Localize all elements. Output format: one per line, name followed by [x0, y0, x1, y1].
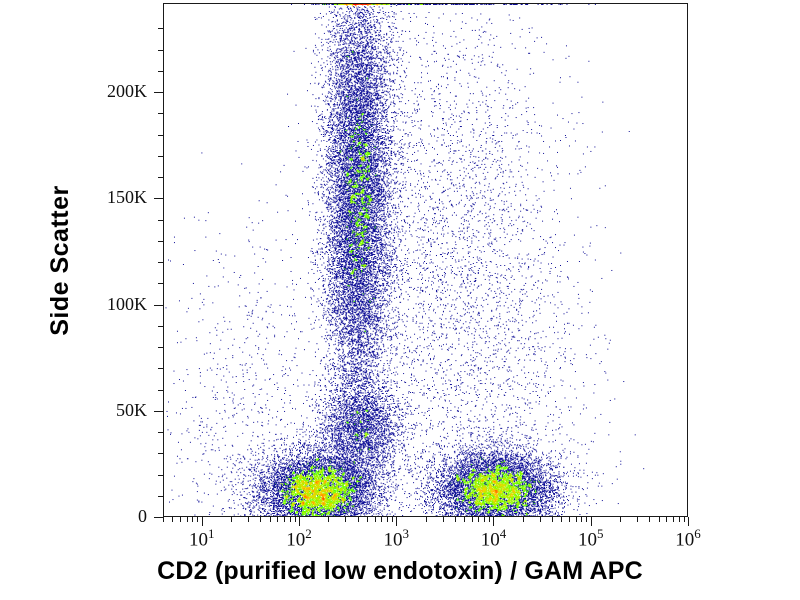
x-tick-major: [396, 517, 397, 526]
y-axis-title: Side Scatter: [40, 0, 80, 520]
x-tick-major: [591, 517, 592, 526]
x-tick-minor: [358, 517, 359, 522]
x-tick-minor: [569, 517, 570, 522]
x-tick-minor: [328, 517, 329, 522]
x-tick-minor: [290, 517, 291, 522]
x-tick-minor: [523, 517, 524, 522]
x-tick-minor: [679, 517, 680, 522]
x-tick-minor: [192, 517, 193, 522]
x-tick-minor: [367, 517, 368, 522]
x-tick-minor: [248, 517, 249, 522]
x-tick-minor: [561, 517, 562, 522]
y-tick-label: 50K: [116, 401, 147, 419]
x-tick-minor: [172, 517, 173, 522]
x-tick-label: 101: [189, 527, 215, 549]
x-tick-minor: [260, 517, 261, 522]
x-tick-minor: [540, 517, 541, 522]
y-tick-major: [154, 517, 163, 518]
y-axis-title-label: Side Scatter: [46, 185, 75, 336]
x-tick-minor: [552, 517, 553, 522]
x-tick-minor: [387, 517, 388, 522]
x-tick-minor: [187, 517, 188, 522]
x-tick-minor: [163, 517, 164, 522]
x-tick-minor: [392, 517, 393, 522]
x-tick-minor: [231, 517, 232, 522]
x-tick-label: 104: [481, 527, 507, 549]
x-tick-minor: [576, 517, 577, 522]
x-tick-minor: [666, 517, 667, 522]
x-tick-minor: [295, 517, 296, 522]
x-tick-minor: [381, 517, 382, 522]
x-tick-minor: [620, 517, 621, 522]
y-tick-label: 200K: [107, 82, 147, 100]
x-tick-minor: [345, 517, 346, 522]
y-tick-label: 150K: [107, 188, 147, 206]
x-tick-minor: [277, 517, 278, 522]
x-tick-minor: [375, 517, 376, 522]
x-tick-minor: [489, 517, 490, 522]
y-tick-label: 0: [138, 507, 147, 525]
x-tick-minor: [455, 517, 456, 522]
x-tick-label: 105: [578, 527, 604, 549]
x-tick-minor: [284, 517, 285, 522]
x-tick-major: [202, 517, 203, 526]
plot-area: [163, 3, 688, 517]
x-tick-minor: [484, 517, 485, 522]
y-tick-major: [154, 92, 163, 93]
x-axis-title: CD2 (purified low endotoxin) / GAM APC: [0, 557, 800, 586]
x-tick-major: [493, 517, 494, 526]
x-tick-minor: [659, 517, 660, 522]
x-tick-minor: [586, 517, 587, 522]
y-tick-major: [154, 411, 163, 412]
x-tick-minor: [180, 517, 181, 522]
x-tick-minor: [673, 517, 674, 522]
x-tick-major: [299, 517, 300, 526]
x-tick-minor: [472, 517, 473, 522]
x-tick-minor: [270, 517, 271, 522]
scatter-density-canvas: [164, 4, 687, 516]
x-tick-minor: [426, 517, 427, 522]
x-tick-minor: [197, 517, 198, 522]
x-tick-minor: [649, 517, 650, 522]
x-tick-label: 102: [286, 527, 312, 549]
x-tick-minor: [464, 517, 465, 522]
flow-cytometry-plot: Side Scatter 050K100K150K200K 1011021031…: [0, 0, 800, 600]
y-axis: 050K100K150K200K: [100, 3, 163, 517]
y-tick-major: [154, 305, 163, 306]
x-tick-minor: [581, 517, 582, 522]
x-tick-major: [688, 517, 689, 526]
y-tick-label: 100K: [107, 295, 147, 313]
x-tick-minor: [637, 517, 638, 522]
x-axis: 101102103104105106: [163, 517, 688, 551]
y-tick-major: [154, 198, 163, 199]
x-tick-minor: [684, 517, 685, 522]
x-tick-label: 106: [675, 527, 701, 549]
x-tick-minor: [478, 517, 479, 522]
x-tick-minor: [443, 517, 444, 522]
x-tick-label: 103: [383, 527, 409, 549]
